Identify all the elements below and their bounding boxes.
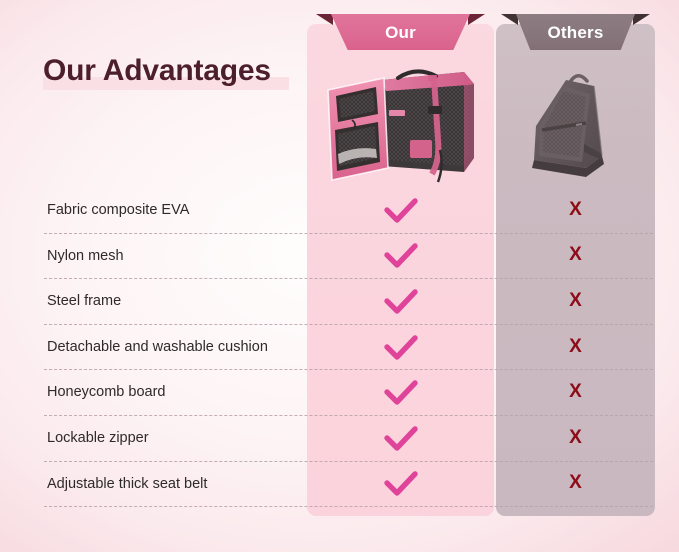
feature-label: Lockable zipper <box>47 416 149 462</box>
table-row: Steel frameX <box>0 279 679 325</box>
cell-our <box>307 279 494 325</box>
gray-pet-backpack-carrier-image <box>516 60 636 186</box>
column-header-others: Others <box>516 14 635 50</box>
page-title-wrap: Our Advantages <box>43 51 271 95</box>
cell-others: X <box>496 416 655 462</box>
x-icon: X <box>569 381 582 403</box>
page-title: Our Advantages <box>43 51 271 91</box>
check-icon <box>384 426 418 452</box>
check-icon <box>384 380 418 406</box>
table-row: Nylon meshX <box>0 234 679 280</box>
check-icon <box>384 335 418 361</box>
cell-our <box>307 325 494 371</box>
check-icon <box>384 243 418 269</box>
cell-others: X <box>496 279 655 325</box>
x-icon: X <box>569 336 582 358</box>
feature-label: Fabric composite EVA <box>47 188 189 234</box>
cell-others: X <box>496 325 655 371</box>
pink-pet-carrier-bag-image <box>316 54 486 190</box>
table-row: Adjustable thick seat beltX <box>0 462 679 508</box>
cell-our <box>307 188 494 234</box>
cell-our <box>307 416 494 462</box>
cell-others: X <box>496 462 655 508</box>
cell-others: X <box>496 188 655 234</box>
column-header-our: Our <box>331 14 470 50</box>
table-row: Honeycomb boardX <box>0 370 679 416</box>
table-row: Fabric composite EVAX <box>0 188 679 234</box>
table-row: Detachable and washable cushionX <box>0 325 679 371</box>
ribbon-body-our: Our <box>331 14 470 50</box>
x-icon: X <box>569 199 582 221</box>
feature-label: Nylon mesh <box>47 234 124 280</box>
check-icon <box>384 471 418 497</box>
check-icon <box>384 289 418 315</box>
cell-our <box>307 234 494 280</box>
cell-our <box>307 462 494 508</box>
x-icon: X <box>569 244 582 266</box>
feature-label: Steel frame <box>47 279 121 325</box>
table-row: Lockable zipperX <box>0 416 679 462</box>
feature-rows: Fabric composite EVAXNylon meshXSteel fr… <box>0 188 679 507</box>
feature-label: Adjustable thick seat belt <box>47 462 207 508</box>
row-divider <box>44 506 653 507</box>
x-icon: X <box>569 472 582 494</box>
comparison-infographic: Our Advantages Our Others <box>0 0 679 552</box>
cell-others: X <box>496 234 655 280</box>
cell-others: X <box>496 370 655 416</box>
cell-our <box>307 370 494 416</box>
x-icon: X <box>569 427 582 449</box>
check-icon <box>384 198 418 224</box>
feature-label: Honeycomb board <box>47 370 166 416</box>
ribbon-body-others: Others <box>516 14 635 50</box>
column-header-label-others: Others <box>548 23 604 43</box>
column-header-label-our: Our <box>385 23 416 43</box>
feature-label: Detachable and washable cushion <box>47 325 268 371</box>
x-icon: X <box>569 290 582 312</box>
